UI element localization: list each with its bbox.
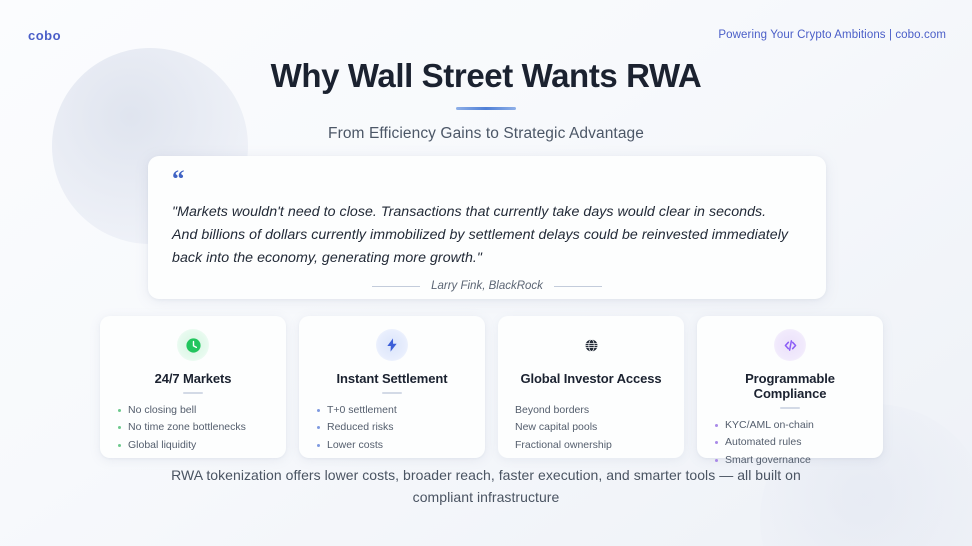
list-item: T+0 settlement [316,403,472,419]
card-title: 24/7 Markets [113,371,273,386]
card-title-divider [183,392,203,394]
cobo-logo: cobo [28,28,61,43]
list-item: KYC/AML on-chain [714,418,870,434]
list-item: Lower costs [316,438,472,454]
list-item: Reduced risks [316,420,472,436]
card-title: Programmable Compliance [710,371,870,401]
title-block: Why Wall Street Wants RWA From Efficienc… [0,58,972,143]
code-brackets-icon [774,329,806,361]
quote-attribution: Larry Fink, BlackRock [172,280,802,292]
quote-mark-icon: “ [172,170,802,190]
card-title: Global Investor Access [511,371,671,386]
page-title: Why Wall Street Wants RWA [0,58,972,95]
card-bullet-list: No closing bell No time zone bottlenecks… [113,403,273,454]
card-bullet-list: KYC/AML on-chain Automated rules Smart g… [710,418,870,469]
feature-card-markets[interactable]: 24/7 Markets No closing bell No time zon… [100,316,286,458]
globe-icon [575,329,607,361]
clock-icon [177,329,209,361]
card-title-divider [780,407,800,409]
brand-tagline: Powering Your Crypto Ambitions | cobo.co… [718,29,946,41]
feature-card-global-investor-access[interactable]: Global Investor Access Beyond borders Ne… [498,316,684,458]
quote-line-2: And billions of dollars currently immobi… [172,224,802,247]
attribution-rule-right [554,286,602,287]
list-item: No closing bell [117,403,273,419]
card-bullet-list: T+0 settlement Reduced risks Lower costs [312,403,472,454]
quote-card: “ "Markets wouldn't need to close. Trans… [148,156,826,299]
card-title: Instant Settlement [312,371,472,386]
title-underline-accent [456,107,516,111]
quote-line-1: "Markets wouldn't need to close. Transac… [172,201,802,224]
lightning-bolt-icon [376,329,408,361]
quote-text: "Markets wouldn't need to close. Transac… [172,201,802,270]
list-item: Automated rules [714,435,870,451]
feature-card-instant-settlement[interactable]: Instant Settlement T+0 settlement Reduce… [299,316,485,458]
list-item: No time zone bottlenecks [117,420,273,436]
footer-line-2: compliant infrastructure [0,486,972,508]
card-bullet-list: Beyond borders New capital pools Fractio… [511,403,671,454]
slide-canvas: cobo Powering Your Crypto Ambitions | co… [0,0,972,546]
list-item: Beyond borders [515,403,671,419]
quote-line-3: back into the economy, generating more g… [172,247,802,270]
list-item: Fractional ownership [515,438,671,454]
feature-card-programmable-compliance[interactable]: Programmable Compliance KYC/AML on-chain… [697,316,883,458]
page-subtitle: From Efficiency Gains to Strategic Advan… [0,125,972,143]
footer-summary: RWA tokenization offers lower costs, bro… [0,464,972,509]
list-item: Global liquidity [117,438,273,454]
feature-card-list: 24/7 Markets No closing bell No time zon… [100,316,883,458]
attribution-rule-left [372,286,420,287]
attribution-name: Larry Fink, BlackRock [431,280,543,292]
footer-line-1: RWA tokenization offers lower costs, bro… [0,464,972,486]
card-title-divider [382,392,402,394]
list-item: New capital pools [515,420,671,436]
